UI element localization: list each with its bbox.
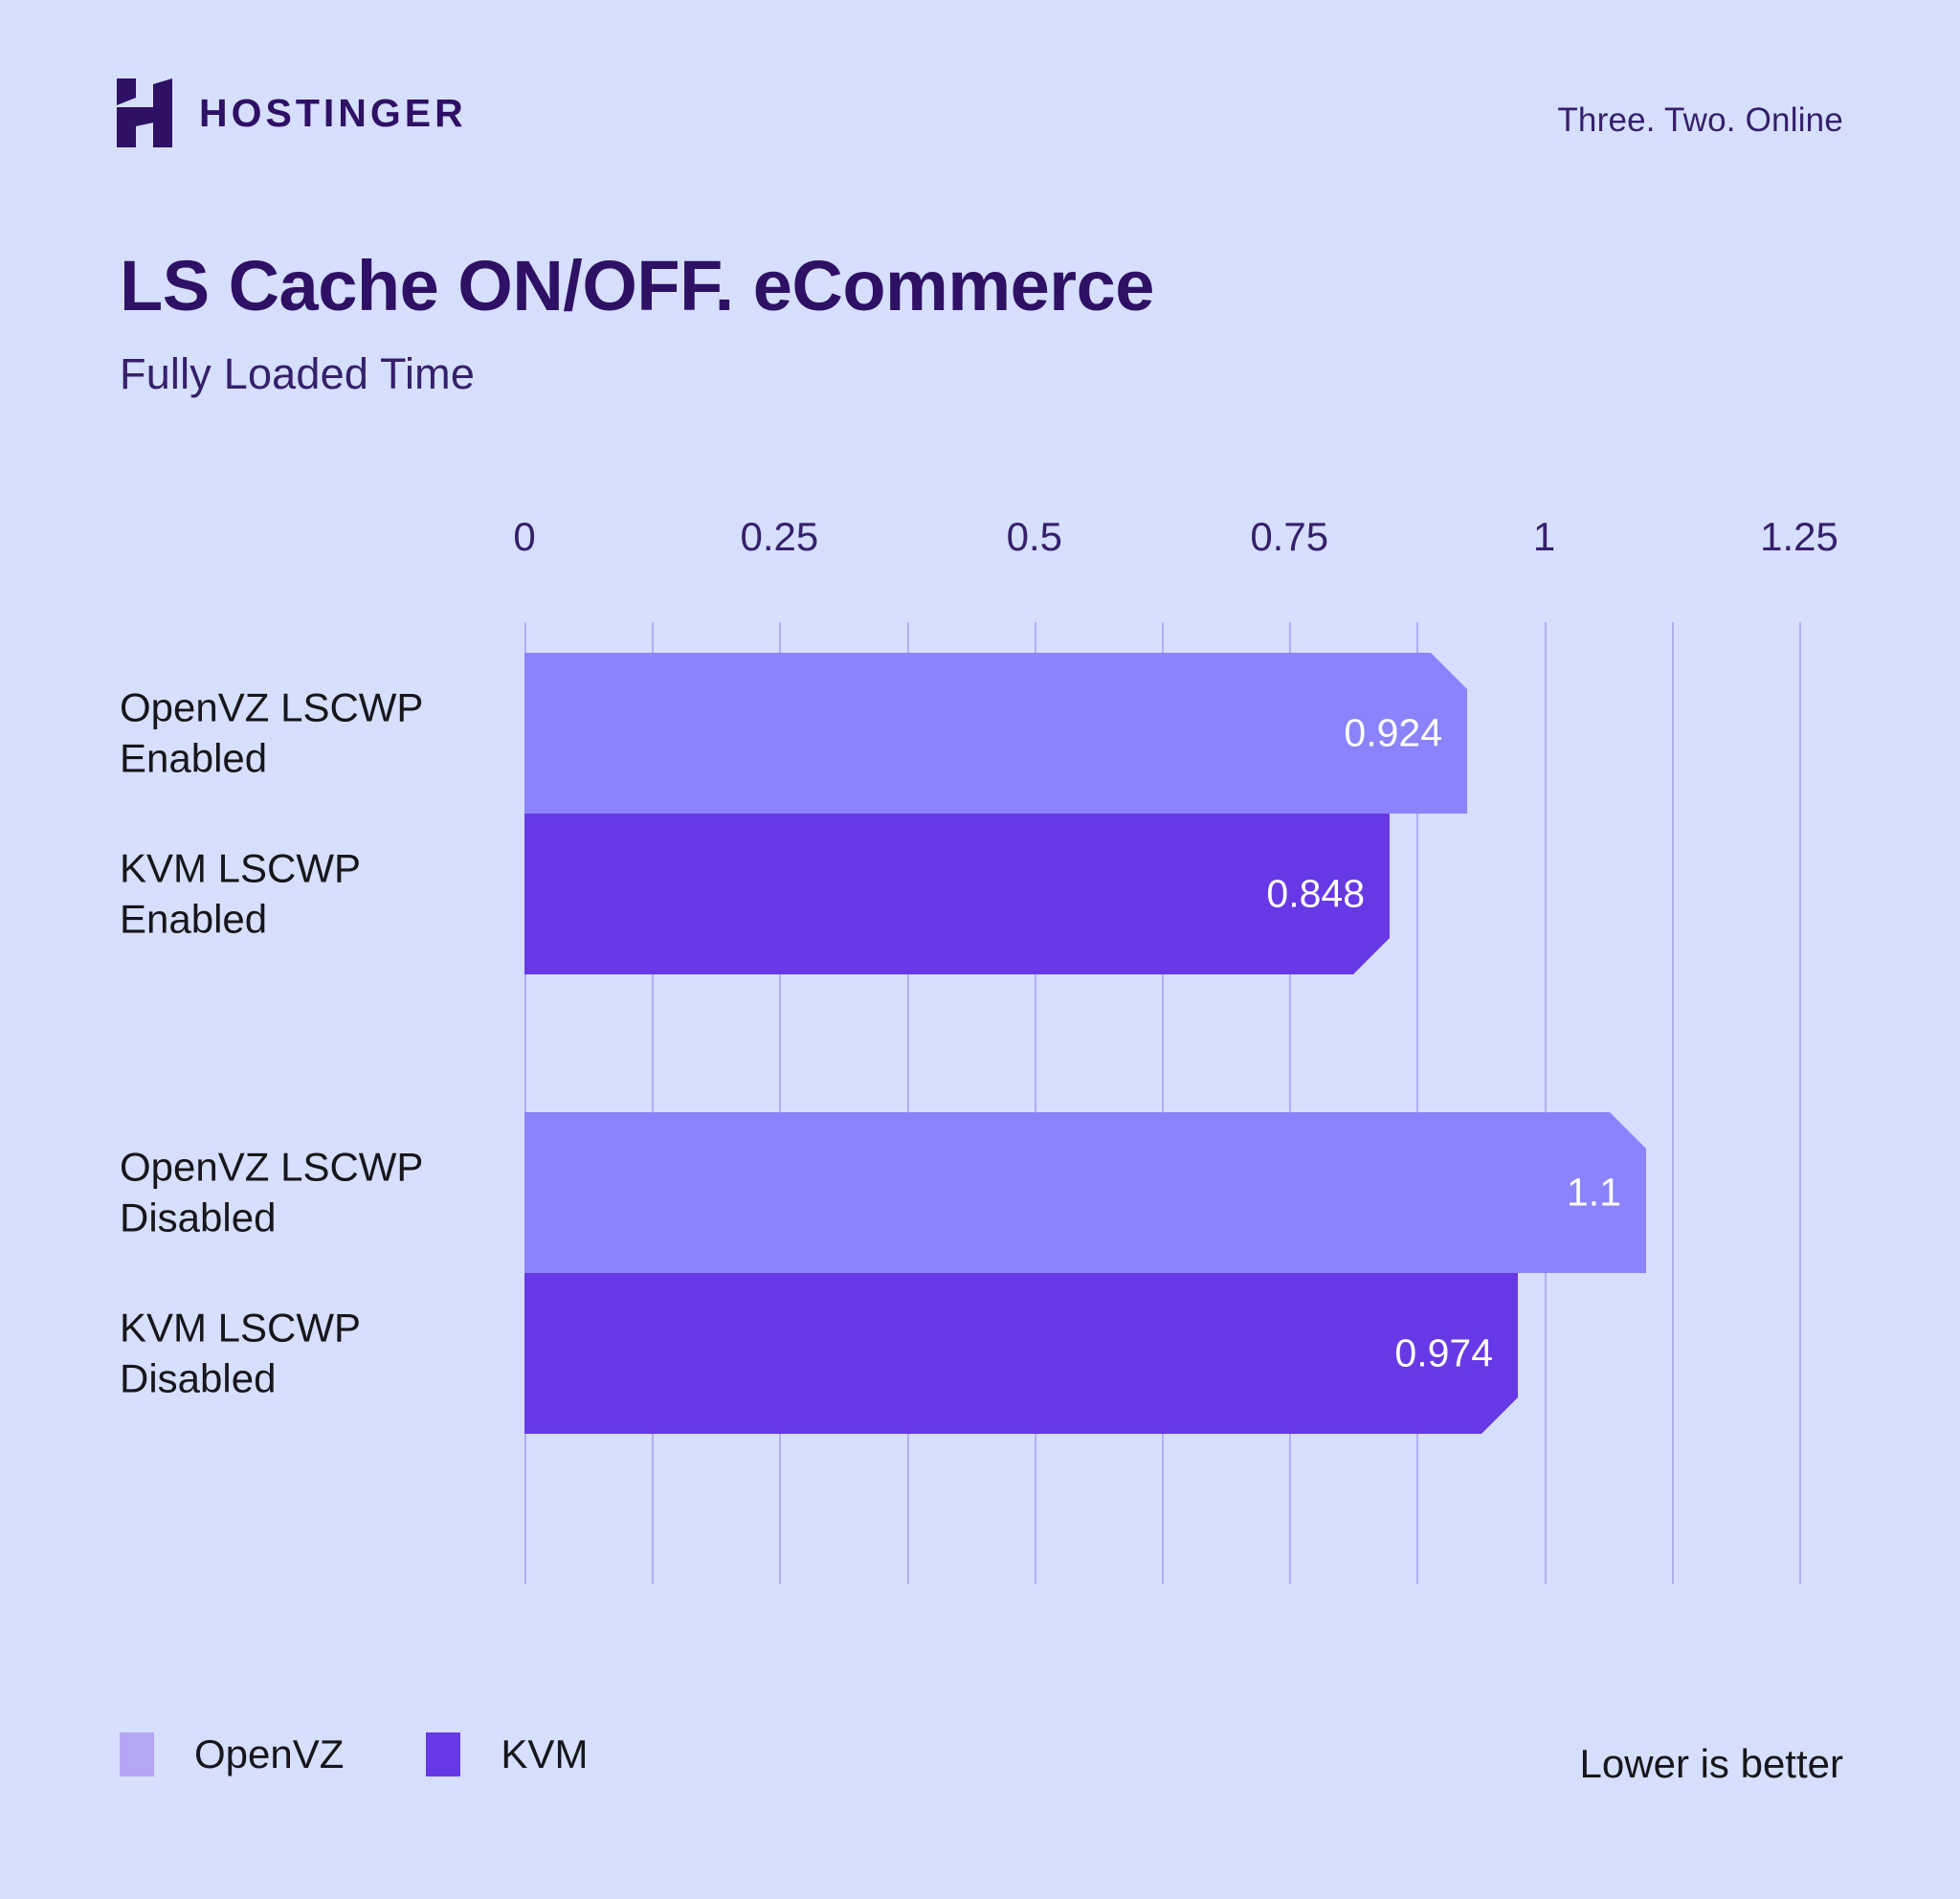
category-label-line2: Enabled <box>120 896 267 941</box>
category-label: OpenVZ LSCWPEnabled <box>120 683 502 784</box>
category-axis-labels: OpenVZ LSCWPEnabledKVM LSCWPEnabledOpenV… <box>0 622 524 1584</box>
bar-openvz-lscwp-disabled: 1.1 <box>524 1112 1646 1273</box>
legend-label: OpenVZ <box>194 1734 344 1775</box>
legend-swatch-icon <box>120 1732 154 1776</box>
category-label-line1: KVM LSCWP <box>120 1306 361 1351</box>
bar-kvm-lscwp-disabled: 0.974 <box>524 1273 1518 1434</box>
x-tick-label: 0.75 <box>1250 517 1328 557</box>
x-tick-label: 0 <box>513 517 535 557</box>
category-label-line2: Disabled <box>120 1195 276 1240</box>
category-label: OpenVZ LSCWPDisabled <box>120 1143 502 1243</box>
bar-value-label: 0.924 <box>1344 714 1442 753</box>
legend-item-openvz[interactable]: OpenVZ <box>120 1732 344 1776</box>
hostinger-h-logo-icon <box>117 78 172 147</box>
x-tick-label: 1.25 <box>1760 517 1838 557</box>
chart-legend: OpenVZKVM <box>120 1732 588 1776</box>
category-label-line1: OpenVZ LSCWP <box>120 685 423 730</box>
brand-tagline: Three. Two. Online <box>1557 101 1843 140</box>
legend-label: KVM <box>501 1734 588 1775</box>
bar-openvz-lscwp-enabled: 0.924 <box>524 653 1467 814</box>
x-tick-label: 1 <box>1533 517 1555 557</box>
chart-page: HOSTINGER Three. Two. Online LS Cache ON… <box>0 0 1960 1899</box>
bar-kvm-lscwp-enabled: 0.848 <box>524 814 1390 974</box>
chart-plot-wrapper: 00.250.50.7511.25 OpenVZ LSCWPEnabledKVM… <box>0 517 1960 1598</box>
legend-item-kvm[interactable]: KVM <box>426 1732 588 1776</box>
x-tick-label: 0.25 <box>741 517 819 557</box>
category-label-line2: Enabled <box>120 735 267 780</box>
legend-swatch-icon <box>426 1732 460 1776</box>
brand-name: HOSTINGER <box>199 94 467 133</box>
category-label: KVM LSCWPEnabled <box>120 844 502 945</box>
chart-footnote: Lower is better <box>1580 1744 1843 1784</box>
x-tick-label: 0.5 <box>1007 517 1062 557</box>
x-axis-tick-labels: 00.250.50.7511.25 <box>0 517 1960 584</box>
category-label-line2: Disabled <box>120 1355 276 1400</box>
category-label: KVM LSCWPDisabled <box>120 1304 502 1404</box>
bars-layer: 0.9240.8481.10.974 <box>524 622 1799 1584</box>
chart-subtitle: Fully Loaded Time <box>120 352 475 395</box>
category-label-line1: OpenVZ LSCWP <box>120 1145 423 1190</box>
brand-lockup: HOSTINGER <box>117 78 467 147</box>
bar-value-label: 1.1 <box>1567 1173 1621 1213</box>
category-label-line1: KVM LSCWP <box>120 846 361 891</box>
gridline <box>1799 622 1801 1584</box>
bar-value-label: 0.974 <box>1394 1334 1493 1374</box>
chart-title: LS Cache ON/OFF. eCommerce <box>120 251 1154 322</box>
bar-value-label: 0.848 <box>1266 875 1365 914</box>
plot-area: 0.9240.8481.10.974 <box>524 622 1799 1584</box>
page-header: HOSTINGER Three. Two. Online <box>0 0 1960 201</box>
